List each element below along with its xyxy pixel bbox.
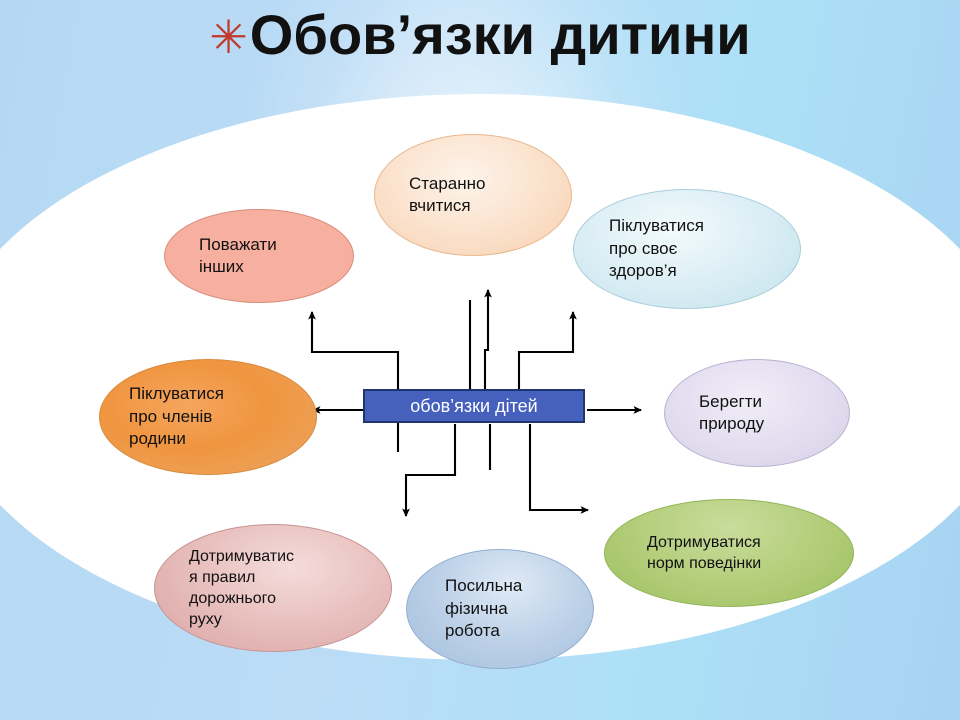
node-povazhaty-label: Поважати інших [165, 234, 353, 279]
center-node[interactable]: обов’язки дітей [363, 389, 585, 423]
node-povedinka[interactable]: Дотримуватися норм поведінки [604, 499, 854, 607]
page-title-text: Обов’язки дитини [250, 6, 751, 65]
node-starannno-label: Старанно вчитися [375, 173, 571, 218]
node-rodyna-label: Піклуватися про членів родини [100, 383, 316, 450]
node-povazhaty[interactable]: Поважати інших [164, 209, 354, 303]
node-pryroda[interactable]: Берегти природу [664, 359, 850, 467]
node-dorozhniy[interactable]: Дотримуватис я правил дорожнього руху [154, 524, 392, 652]
node-povedinka-label: Дотримуватися норм поведінки [605, 532, 853, 574]
node-starannno[interactable]: Старанно вчитися [374, 134, 572, 256]
center-node-label: обов’язки дітей [410, 397, 537, 415]
node-fizychna[interactable]: Посильна фізична робота [406, 549, 594, 669]
asterisk-bullet-icon: ✳ [209, 14, 248, 60]
node-pryroda-label: Берегти природу [665, 391, 849, 436]
page-title: ✳Обов’язки дитини [0, 6, 960, 65]
node-zdorovya[interactable]: Піклуватися про своє здоров’я [573, 189, 801, 309]
slide-canvas: ✳Обов’язки дитини [0, 0, 960, 720]
node-fizychna-label: Посильна фізична робота [407, 575, 593, 642]
node-zdorovya-label: Піклуватися про своє здоров’я [574, 215, 800, 282]
node-dorozhniy-label: Дотримуватис я правил дорожнього руху [155, 546, 391, 630]
node-rodyna[interactable]: Піклуватися про членів родини [99, 359, 317, 475]
